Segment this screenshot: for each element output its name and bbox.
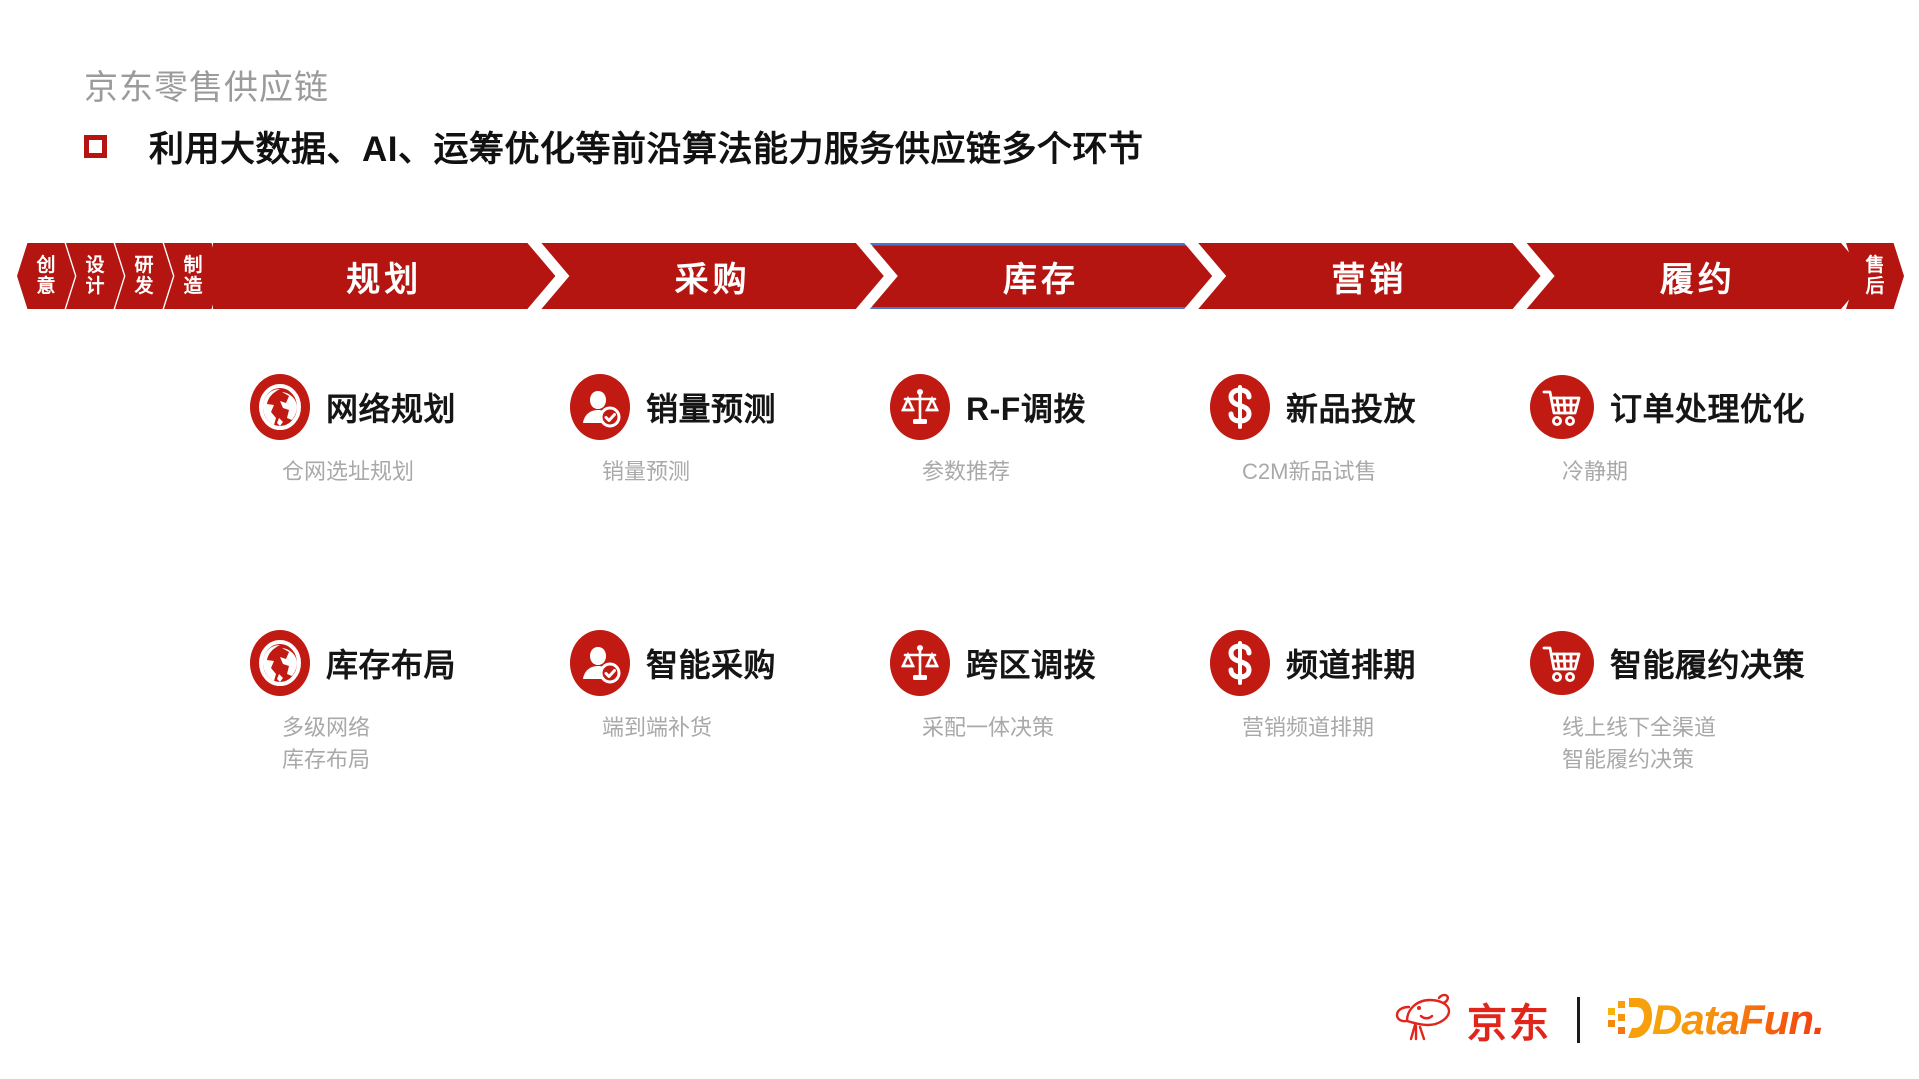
ribbon-stage-lvyue[interactable]: 履约 (1527, 243, 1869, 309)
chevron-line-2: 发 (134, 277, 153, 296)
card-title: 频道排期 (1286, 640, 1416, 686)
square-bullet-icon (84, 135, 107, 158)
chevron-line-1: 创 (36, 256, 55, 275)
footer-logos: 京东 DataFun. (1395, 985, 1824, 1055)
user-check-icon (570, 630, 630, 696)
capability-card-xiaoliangyuce[interactable]: 销量预测 销量预测 (570, 372, 890, 488)
subtitle-text: 利用大数据、AI、运筹优化等前沿算法能力服务供应链多个环节 (149, 121, 1144, 172)
card-head: 新品投放 (1210, 372, 1530, 442)
capability-card-xinpintoufang[interactable]: 新品投放 C2M新品试售 (1210, 372, 1530, 488)
card-head: 订单处理优化 (1530, 372, 1880, 442)
card-title: 智能履约决策 (1610, 640, 1805, 686)
dollar-sign-icon (1210, 630, 1270, 696)
card-subtitle: 参数推荐 (922, 456, 1210, 488)
jd-logo: 京东 (1395, 989, 1551, 1052)
chevron-line-2: 造 (183, 277, 202, 296)
card-head: 跨区调拨 (890, 628, 1210, 698)
capability-grid: 网络规划 仓网选址规划 销量预测 销量预测 (250, 372, 1890, 776)
card-title: 库存布局 (326, 640, 456, 686)
dollar-sign-icon (1210, 374, 1270, 440)
datafun-label: DataFun. (1652, 996, 1824, 1044)
chevron-line-1: 售 (1866, 256, 1885, 275)
card-title: R-F调拨 (966, 384, 1086, 430)
datafun-logo: DataFun. (1606, 994, 1824, 1047)
card-head: 网络规划 (250, 372, 570, 442)
card-title: 网络规划 (326, 384, 456, 430)
card-title: 销量预测 (646, 384, 776, 430)
capability-card-wangluoguihua[interactable]: 网络规划 仓网选址规划 (250, 372, 570, 488)
card-subtitle: 仓网选址规划 (282, 456, 570, 488)
chevron-line-1: 设 (85, 256, 104, 275)
process-ribbon: 创 意 设 计 研 发 制 造 规划 采购 库存 营销 履约 售 后 (17, 243, 1904, 309)
chevron-line-1: 制 (183, 256, 202, 275)
card-head: R-F调拨 (890, 372, 1210, 442)
ribbon-chevron-chuangyi[interactable]: 创 意 (17, 243, 75, 309)
card-subtitle: 营销频道排期 (1242, 712, 1530, 744)
card-title: 订单处理优化 (1610, 384, 1805, 430)
chevron-line-2: 计 (85, 277, 104, 296)
capability-card-zhinengcaigou[interactable]: 智能采购 端到端补货 (570, 628, 890, 776)
balance-scale-icon (890, 630, 950, 696)
ribbon-stage-yingxiao[interactable]: 营销 (1198, 243, 1540, 309)
globe-network-icon (250, 630, 310, 696)
globe-network-icon (250, 374, 310, 440)
card-subtitle: 销量预测 (602, 456, 890, 488)
card-subtitle: C2M新品试售 (1242, 456, 1530, 488)
capability-card-kuaquhediaobo[interactable]: 跨区调拨 采配一体决策 (890, 628, 1210, 776)
card-subtitle: 采配一体决策 (922, 712, 1210, 744)
chevron-line-2: 意 (36, 277, 55, 296)
capability-card-zhinenglvyuejuece[interactable]: 智能履约决策 线上线下全渠道 智能履约决策 (1530, 628, 1880, 776)
card-subtitle: 端到端补货 (602, 712, 890, 744)
slide-root: 京东零售供应链 利用大数据、AI、运筹优化等前沿算法能力服务供应链多个环节 创 … (0, 0, 1919, 1079)
card-head: 销量预测 (570, 372, 890, 442)
capability-row-2: 库存布局 多级网络 库存布局 智能采购 端到端补 (250, 628, 1890, 776)
balance-scale-icon (890, 374, 950, 440)
card-subtitle: 线上线下全渠道 智能履约决策 (1562, 712, 1880, 776)
footer-divider (1577, 997, 1580, 1043)
card-title: 跨区调拨 (966, 640, 1096, 686)
chevron-line-1: 研 (134, 256, 153, 275)
jd-label: 京东 (1467, 991, 1551, 1049)
card-subtitle: 冷静期 (1562, 456, 1880, 488)
user-check-icon (570, 374, 630, 440)
card-head: 智能采购 (570, 628, 890, 698)
capability-card-dingdanchuliyouhua[interactable]: 订单处理优化 冷静期 (1530, 372, 1880, 488)
ribbon-stage-guihua[interactable]: 规划 (213, 243, 555, 309)
capability-card-pindaopaiqi[interactable]: 频道排期 营销频道排期 (1210, 628, 1530, 776)
card-head: 智能履约决策 (1530, 628, 1880, 698)
ribbon-stage-kucun[interactable]: 库存 (870, 243, 1212, 309)
page-title: 京东零售供应链 (84, 60, 329, 109)
capability-row-1: 网络规划 仓网选址规划 销量预测 销量预测 (250, 372, 1890, 488)
chevron-line-2: 后 (1866, 277, 1885, 296)
card-subtitle: 多级网络 库存布局 (282, 712, 570, 776)
ribbon-stage-caigou[interactable]: 采购 (541, 243, 883, 309)
card-head: 频道排期 (1210, 628, 1530, 698)
card-title: 智能采购 (646, 640, 776, 686)
shopping-cart-icon (1530, 375, 1594, 439)
jd-dog-icon (1395, 989, 1457, 1052)
card-head: 库存布局 (250, 628, 570, 698)
subtitle-row: 利用大数据、AI、运筹优化等前沿算法能力服务供应链多个环节 (84, 121, 1144, 172)
shopping-cart-icon (1530, 631, 1594, 695)
capability-card-kucunbuju[interactable]: 库存布局 多级网络 库存布局 (250, 628, 570, 776)
capability-card-rf-diaobo[interactable]: R-F调拨 参数推荐 (890, 372, 1210, 488)
datafun-dots-icon (1606, 994, 1652, 1047)
card-title: 新品投放 (1286, 384, 1416, 430)
